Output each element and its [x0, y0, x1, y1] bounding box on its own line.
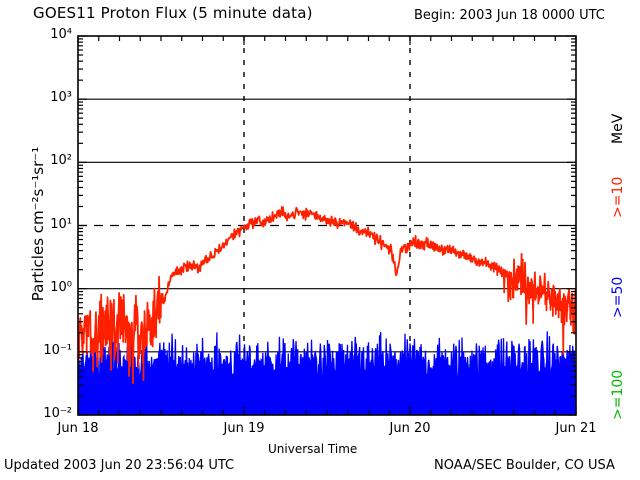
plot-canvas — [0, 0, 640, 480]
proton-flux-plot: GOES11 Proton Flux (5 minute data) Begin… — [0, 0, 640, 480]
